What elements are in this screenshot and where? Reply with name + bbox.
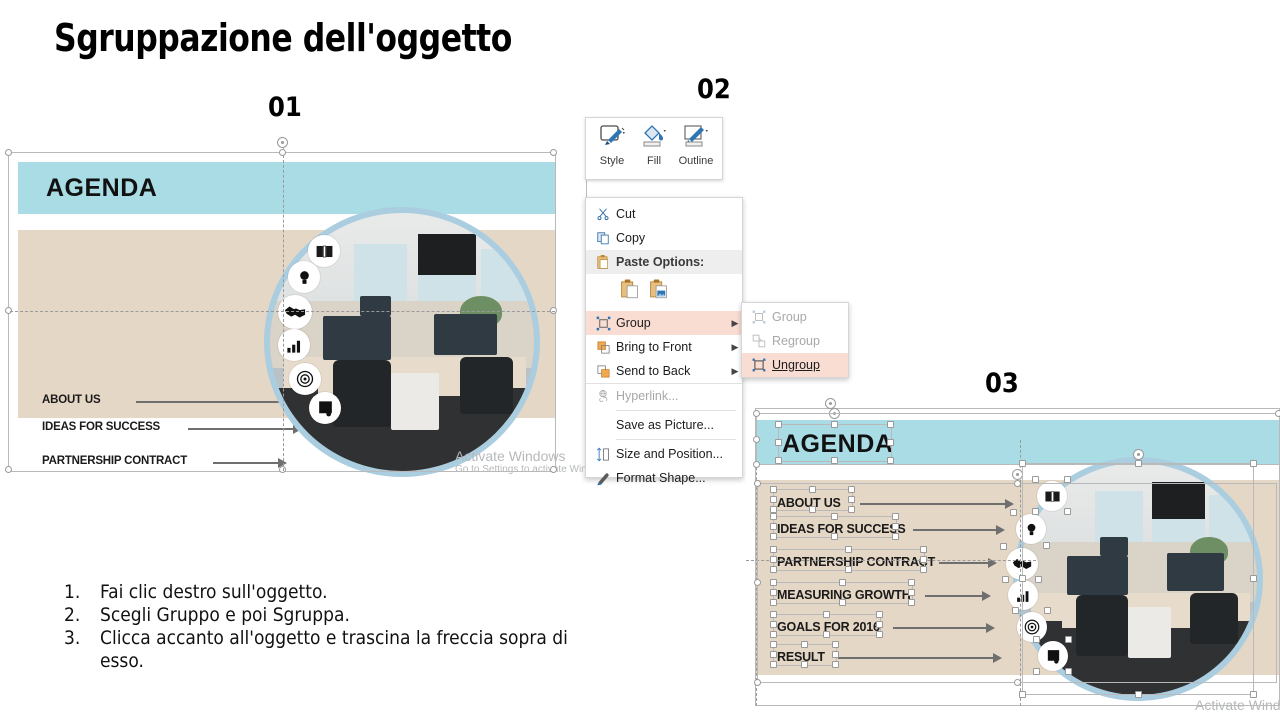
selection-handle[interactable] — [1250, 691, 1257, 698]
pencil-outline-icon — [682, 124, 710, 154]
selection-handle[interactable] — [1014, 679, 1021, 686]
submenu-item-regroup: Regroup — [742, 329, 848, 353]
group-submenu[interactable]: Group Regroup Un — [741, 302, 849, 378]
instruction-item: 1. Fai clic destro sull'oggetto. — [64, 581, 604, 603]
rotation-handle[interactable] — [1012, 469, 1023, 480]
selection-handle[interactable] — [5, 149, 12, 156]
selection-handle[interactable] — [770, 661, 777, 668]
agenda-item-label: ABOUT US — [42, 394, 100, 406]
context-menu-item-label: Bring to Front — [616, 340, 728, 354]
selection-handle[interactable] — [823, 611, 830, 618]
selection-handle[interactable] — [754, 480, 761, 487]
selection-handle[interactable] — [770, 486, 777, 493]
step-number-01: 01 — [268, 92, 302, 123]
selection-handle[interactable] — [839, 599, 846, 606]
selection-handle[interactable] — [831, 457, 838, 464]
paste-picture-icon[interactable] — [649, 278, 668, 305]
agenda-arrow-head — [986, 623, 995, 633]
selection-handle[interactable] — [770, 533, 777, 540]
selection-handle[interactable] — [1019, 575, 1026, 582]
instruction-text: Fai clic destro sull'oggetto. — [100, 581, 604, 603]
rotation-handle[interactable] — [829, 408, 840, 419]
agenda-arrow[interactable] — [925, 595, 985, 597]
book-icon[interactable] — [308, 235, 340, 267]
context-menu-item-label: Format Shape... — [616, 471, 742, 485]
selection-handle[interactable] — [831, 533, 838, 540]
selection-handle[interactable] — [801, 661, 808, 668]
step-number-02: 02 — [697, 74, 731, 105]
agenda-item-label[interactable]: PARTNERSHIP CONTRACT — [777, 555, 935, 569]
selection-handle[interactable] — [1014, 480, 1021, 487]
selection-handle[interactable] — [770, 641, 777, 648]
target-icon[interactable] — [289, 363, 321, 395]
selection-handle[interactable] — [1019, 691, 1026, 698]
selection-handle[interactable] — [770, 611, 777, 618]
selection-handle[interactable] — [876, 611, 883, 618]
selection-handle[interactable] — [775, 439, 782, 446]
selection-handle[interactable] — [848, 506, 855, 513]
selection-handle[interactable] — [1250, 460, 1257, 467]
selection-handle[interactable] — [1033, 636, 1040, 643]
regroup-icon — [746, 334, 772, 348]
selection-handle[interactable] — [1250, 575, 1257, 582]
mini-toolbar-style[interactable]: Style — [594, 124, 630, 175]
selection-handle[interactable] — [908, 599, 915, 606]
selection-handle[interactable] — [801, 641, 808, 648]
instruction-item: 2. Scegli Gruppo e poi Sgruppa. — [64, 604, 604, 626]
selection-handle[interactable] — [876, 621, 883, 628]
selection-handle[interactable] — [809, 506, 816, 513]
context-menu-item-label: Send to Back — [616, 364, 728, 378]
selection-handle[interactable] — [809, 486, 816, 493]
step-number-03: 03 — [985, 368, 1019, 399]
selection-handle[interactable] — [770, 506, 777, 513]
context-menu-item-group[interactable]: Group ▶ — [586, 311, 742, 335]
context-menu-item-label: Copy — [616, 231, 742, 245]
shape-style-icon — [598, 124, 626, 154]
selection-handle[interactable] — [887, 439, 894, 446]
agenda-arrow-head — [993, 653, 1002, 663]
context-menu[interactable]: Cut Copy Paste Options: — [585, 197, 743, 478]
mini-toolbar-outline[interactable]: Outline — [678, 124, 714, 175]
alignment-guide-horizontal — [10, 311, 555, 312]
rotation-handle[interactable] — [1133, 449, 1144, 460]
selection-handle[interactable] — [1035, 576, 1042, 583]
menu-divider — [616, 410, 736, 411]
selection-handle[interactable] — [770, 556, 777, 563]
selection-handle[interactable] — [908, 579, 915, 586]
selection-handle[interactable] — [1043, 542, 1050, 549]
context-menu-item-send-to-back[interactable]: Send to Back ▶ — [586, 359, 742, 383]
context-menu-item-label: Cut — [616, 207, 742, 221]
selection-handle[interactable] — [832, 651, 839, 658]
context-menu-item-copy[interactable]: Copy — [586, 226, 742, 250]
context-menu-item-label: Hyperlink... — [616, 389, 742, 403]
instructions-list: 1. Fai clic destro sull'oggetto. 2. Sceg… — [64, 581, 604, 673]
context-menu-item-label: Group — [616, 316, 728, 330]
selection-handle[interactable] — [753, 461, 760, 468]
chevron-right-icon: ▶ — [728, 366, 742, 377]
selection-handle[interactable] — [1019, 460, 1026, 467]
bar-chart-icon[interactable] — [1008, 580, 1038, 610]
ungroup-icon — [746, 358, 772, 372]
paste-icon — [590, 254, 616, 270]
selection-handle[interactable] — [920, 566, 927, 573]
context-menu-item-hyperlink: Hyperlink... — [586, 384, 742, 408]
mini-toolbar-fill[interactable]: Fill — [636, 124, 672, 175]
agenda-item-label: PARTNERSHIP CONTRACT — [42, 455, 187, 467]
copy-icon — [590, 231, 616, 245]
certificate-icon[interactable] — [1038, 641, 1068, 671]
selection-handle[interactable] — [775, 457, 782, 464]
selection-handle[interactable] — [831, 513, 838, 520]
selection-handle[interactable] — [1044, 607, 1051, 614]
alignment-guide-vertical — [756, 412, 757, 706]
submenu-item-ungroup[interactable]: Ungroup — [742, 353, 848, 377]
selection-handle[interactable] — [775, 421, 782, 428]
group-icon — [590, 316, 616, 331]
mini-toolbar-fill-label: Fill — [647, 155, 661, 167]
send-back-icon — [590, 364, 616, 379]
menu-divider — [616, 439, 736, 440]
agenda-heading[interactable]: AGENDA — [782, 430, 893, 459]
selection-handle[interactable] — [920, 546, 927, 553]
selection-handle[interactable] — [1012, 607, 1019, 614]
selection-handle[interactable] — [770, 621, 777, 628]
selection-handle[interactable] — [550, 466, 557, 473]
selection-handle[interactable] — [892, 513, 899, 520]
scissors-icon — [590, 207, 616, 221]
selection-handle[interactable] — [887, 421, 894, 428]
selection-handle[interactable] — [845, 566, 852, 573]
instruction-item: 3. Clicca accanto all'oggetto e trascina… — [64, 627, 604, 671]
context-menu-item-cut[interactable]: Cut — [586, 202, 742, 226]
selection-handle[interactable] — [1033, 668, 1040, 675]
selection-handle[interactable] — [770, 523, 777, 530]
context-menu-item-label: Size and Position... — [616, 447, 742, 461]
chevron-right-icon: ▶ — [728, 342, 742, 353]
alignment-guide-horizontal — [746, 560, 1036, 561]
format-shape-icon — [590, 471, 616, 486]
selection-handle[interactable] — [1064, 476, 1071, 483]
selection-handle[interactable] — [1135, 691, 1142, 698]
agenda-arrow[interactable] — [893, 627, 989, 629]
selection-handle[interactable] — [770, 496, 777, 503]
selection-handle[interactable] — [753, 436, 760, 443]
group-icon — [746, 310, 772, 324]
rotation-handle[interactable] — [277, 137, 288, 148]
selection-handle[interactable] — [754, 579, 761, 586]
certificate-icon[interactable] — [309, 392, 341, 424]
submenu-item-label: Regroup — [772, 334, 848, 348]
instruction-number: 2. — [64, 604, 100, 626]
selection-handle[interactable] — [550, 149, 557, 156]
selection-handle[interactable] — [753, 410, 760, 417]
page-title: Sgruppazione dell'oggetto — [54, 16, 512, 60]
selection-handle[interactable] — [832, 641, 839, 648]
lightbulb-icon[interactable] — [288, 261, 320, 293]
bring-front-icon — [590, 340, 616, 355]
book-icon[interactable] — [1037, 481, 1067, 511]
agenda-item-label: IDEAS FOR SUCCESS — [42, 421, 160, 433]
alignment-guide-vertical — [283, 155, 284, 471]
selection-handle[interactable] — [845, 546, 852, 553]
context-menu-paste-options-header: Paste Options: — [586, 250, 742, 274]
paste-keep-formatting-icon[interactable] — [620, 278, 639, 305]
selection-handle[interactable] — [1010, 509, 1017, 516]
selection-handle[interactable] — [770, 566, 777, 573]
selection-handle[interactable] — [920, 556, 927, 563]
selection-handle[interactable] — [770, 579, 777, 586]
selection-handle[interactable] — [1002, 576, 1009, 583]
context-menu-item-bring-to-front[interactable]: Bring to Front ▶ — [586, 335, 742, 359]
selection-handle[interactable] — [770, 589, 777, 596]
selection-handle[interactable] — [1032, 508, 1039, 515]
submenu-item-label: Group — [772, 310, 848, 324]
selection-handle[interactable] — [1032, 476, 1039, 483]
selection-handle[interactable] — [5, 466, 12, 473]
target-icon[interactable] — [1017, 612, 1047, 642]
paint-bucket-icon — [640, 124, 668, 154]
submenu-item-label: Ungroup — [772, 358, 848, 372]
selection-handle[interactable] — [839, 579, 846, 586]
agenda-arrow[interactable] — [860, 503, 1008, 505]
selection-handle[interactable] — [1065, 668, 1072, 675]
selection-handle[interactable] — [823, 631, 830, 638]
submenu-item-group: Group — [742, 305, 848, 329]
context-menu-paste-options-label: Paste Options: — [616, 255, 742, 269]
hyperlink-icon — [590, 389, 616, 403]
agenda-item-label[interactable]: IDEAS FOR SUCCESS — [777, 522, 906, 536]
instruction-text: Scegli Gruppo e poi Sgruppa. — [100, 604, 604, 626]
context-menu-item-label: Save as Picture... — [616, 418, 742, 432]
agenda-arrow[interactable] — [939, 562, 991, 564]
selection-handle[interactable] — [848, 486, 855, 493]
agenda-heading: AGENDA — [46, 174, 157, 203]
selection-handle[interactable] — [892, 533, 899, 540]
selection-handle[interactable] — [832, 661, 839, 668]
selection-handle[interactable] — [770, 599, 777, 606]
selection-handle[interactable] — [1064, 508, 1071, 515]
selection-handle[interactable] — [1000, 543, 1007, 550]
selection-handle[interactable] — [1065, 636, 1072, 643]
chevron-right-icon: ▶ — [728, 318, 742, 329]
agenda-arrow-head — [1005, 499, 1014, 509]
selection-handle[interactable] — [908, 589, 915, 596]
selection-handle[interactable] — [770, 631, 777, 638]
context-menu-item-size-and-position[interactable]: Size and Position... — [586, 442, 742, 466]
selection-handle[interactable] — [770, 651, 777, 658]
selection-handle[interactable] — [887, 457, 894, 464]
selection-handle[interactable] — [1135, 460, 1142, 467]
selection-handle[interactable] — [754, 679, 761, 686]
selection-handle[interactable] — [770, 513, 777, 520]
toolbar-connector — [586, 180, 587, 197]
context-menu-item-save-as-picture[interactable]: Save as Picture... — [586, 413, 742, 437]
agenda-arrow-head — [982, 591, 991, 601]
selection-handle[interactable] — [1275, 410, 1280, 417]
selection-handle[interactable] — [876, 631, 883, 638]
mini-toolbar-outline-label: Outline — [679, 155, 714, 167]
instruction-text: Clicca accanto all'oggetto e trascina la… — [100, 627, 604, 671]
size-position-icon — [590, 447, 616, 462]
agenda-arrow-head — [996, 525, 1005, 535]
selection-handle[interactable] — [848, 496, 855, 503]
instruction-number: 1. — [64, 581, 100, 603]
agenda-arrow[interactable] — [913, 529, 999, 531]
paste-options-row[interactable] — [586, 274, 742, 311]
selection-handle[interactable] — [831, 421, 838, 428]
selection-handle[interactable] — [892, 523, 899, 530]
agenda-arrow[interactable] — [838, 657, 996, 659]
instruction-number: 3. — [64, 627, 100, 671]
presentation-slide: Sgruppazione dell'oggetto 01 02 03 AGEND… — [0, 0, 1280, 720]
mini-toolbar[interactable]: Style Fill — [585, 117, 723, 180]
context-menu-item-format-shape[interactable]: Format Shape... — [586, 466, 742, 490]
alignment-guide-vertical — [1020, 440, 1021, 706]
selection-handle[interactable] — [770, 546, 777, 553]
mini-toolbar-style-label: Style — [600, 155, 624, 167]
